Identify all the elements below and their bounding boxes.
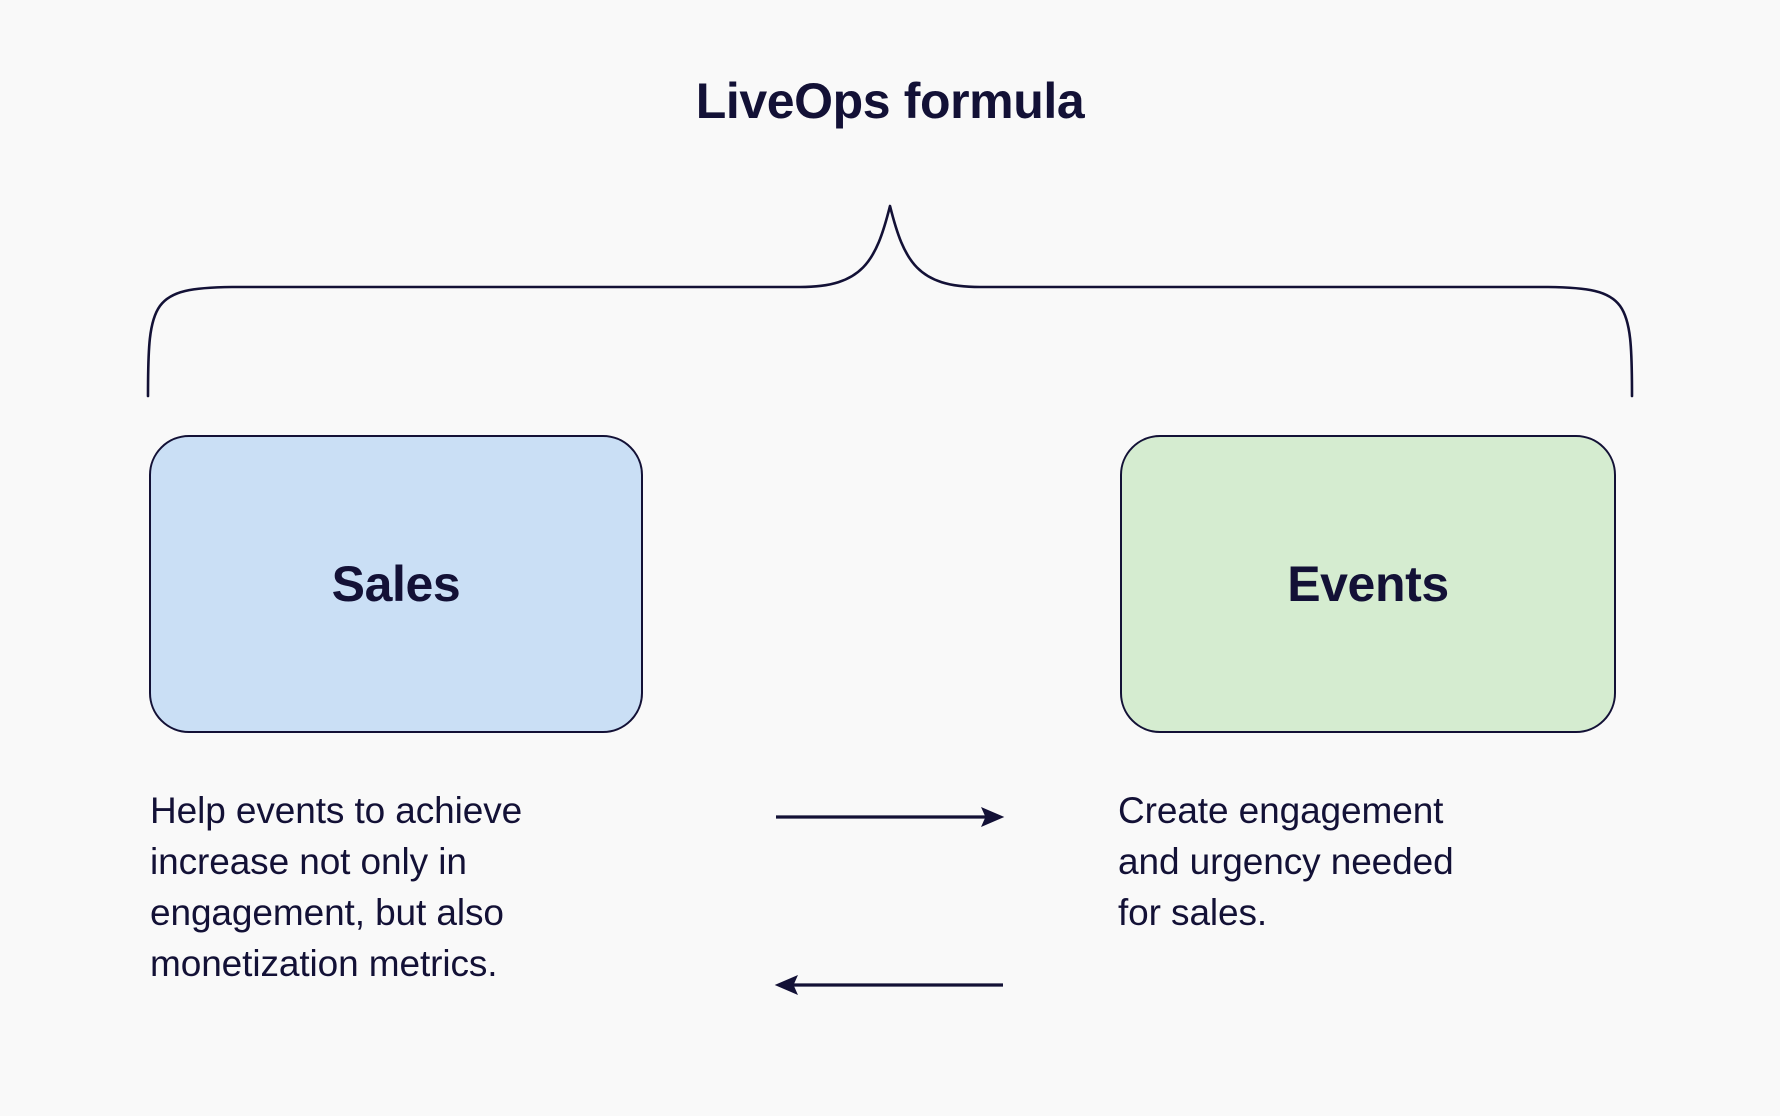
node-sales-label: Sales — [332, 559, 461, 609]
arrow-left-icon — [776, 976, 1003, 994]
node-events-label: Events — [1287, 559, 1449, 609]
description-sales-line: Help events to achieve — [150, 785, 670, 836]
node-events[interactable]: Events — [1120, 435, 1616, 733]
description-sales-line: increase not only in — [150, 836, 670, 887]
liveops-formula-diagram: LiveOps formula Sales Events Help events… — [0, 0, 1780, 1116]
description-sales-line: engagement, but also — [150, 887, 670, 938]
description-events-line: Create engagement — [1118, 785, 1638, 836]
arrow-right-icon — [776, 808, 1003, 826]
description-events-line: and urgency needed — [1118, 836, 1638, 887]
description-sales-line: monetization metrics. — [150, 938, 670, 989]
page-title: LiveOps formula — [0, 74, 1780, 129]
description-events: Create engagement and urgency needed for… — [1118, 785, 1638, 938]
node-sales[interactable]: Sales — [149, 435, 643, 733]
description-events-line: for sales. — [1118, 887, 1638, 938]
description-sales: Help events to achieve increase not only… — [150, 785, 670, 989]
